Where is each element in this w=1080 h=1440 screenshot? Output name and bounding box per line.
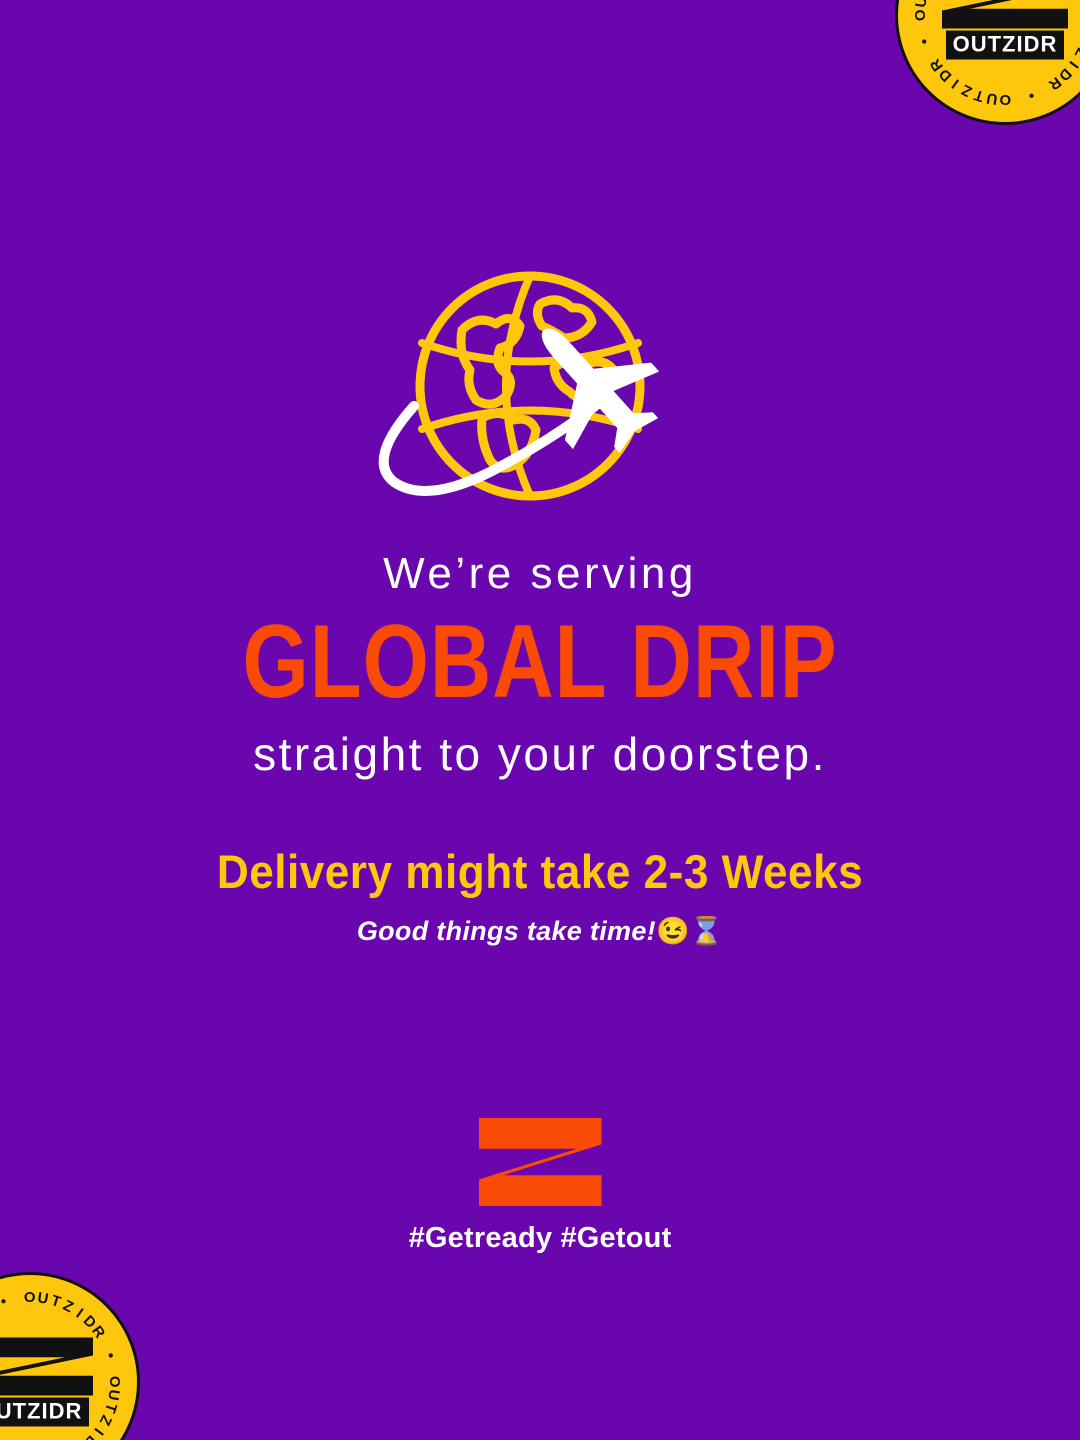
- stamp-core-top-right: OUTZIDR: [939, 0, 1071, 60]
- globe-airplane-illustration: [350, 268, 730, 518]
- copy-block: We’re serving GLOBAL DRIP straight to yo…: [0, 548, 1080, 947]
- stamp-badge-top-right: OUTZIDR•OUTZIDR•OUTZIDR•OUTZIDR• OUTZIDR: [895, 0, 1080, 125]
- delivery-note-text: Delivery might take 2-3 Weeks: [32, 844, 1047, 899]
- stamp-badge-bottom-left: OUTZIDR•OUTZIDR•OUTZIDR•OUTZIDR• OUTZIDR: [0, 1272, 140, 1440]
- promo-poster: OUTZIDR•OUTZIDR•OUTZIDR•OUTZIDR• OUTZIDR: [0, 0, 1080, 1440]
- outzidr-z-icon: [942, 0, 1068, 29]
- footer-brand-block: #Getready #Getout: [0, 1118, 1080, 1255]
- subhead-text: straight to your doorstep.: [0, 727, 1080, 782]
- stamp-wordmark: OUTZIDR: [0, 1398, 89, 1427]
- reassurance-line: Good things take time!😉⌛: [0, 915, 1080, 947]
- wink-hourglass-emoji: 😉⌛: [656, 916, 723, 946]
- reassurance-text: Good things take time!: [357, 916, 656, 946]
- outzidr-z-logo-icon: [479, 1118, 602, 1206]
- globe-airplane-svg: [350, 268, 730, 518]
- outzidr-z-icon: [0, 1338, 93, 1396]
- stamp-wordmark: OUTZIDR: [946, 31, 1065, 60]
- eyebrow-text: We’re serving: [0, 548, 1080, 600]
- stamp-core-bottom-left: OUTZIDR: [0, 1338, 96, 1427]
- tagline-text: #Getready #Getout: [0, 1222, 1080, 1255]
- headline-text: GLOBAL DRIP: [97, 608, 983, 717]
